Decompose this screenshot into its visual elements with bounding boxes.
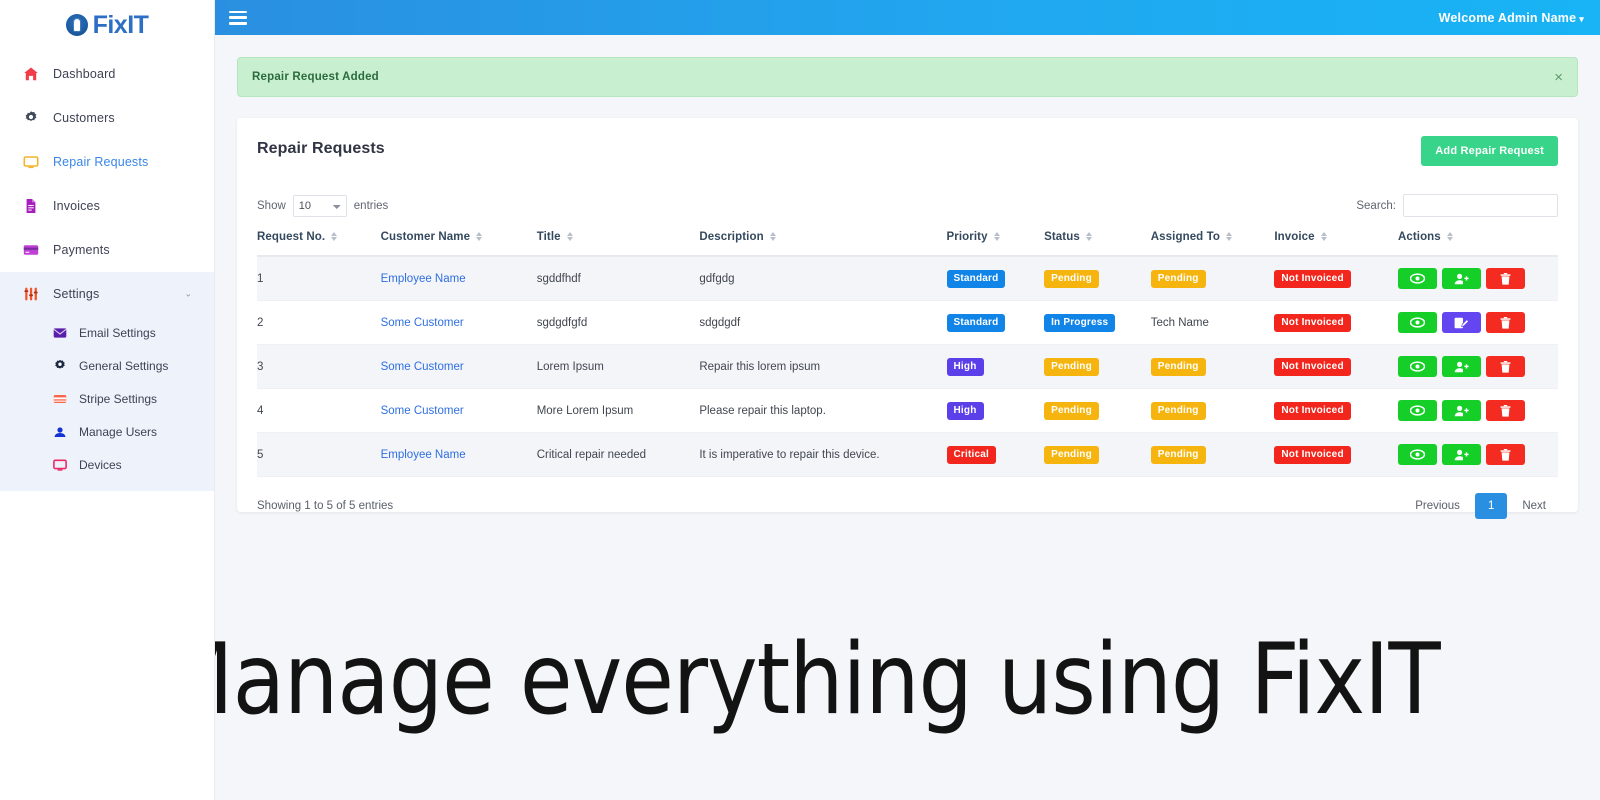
- invoice-badge: Not Invoiced: [1274, 402, 1350, 420]
- request-no-value: 3: [257, 361, 263, 373]
- sort-icon: [770, 232, 776, 241]
- cell-title: More Lorem Ipsum: [537, 389, 700, 433]
- customer-link[interactable]: Employee Name: [381, 449, 466, 461]
- title-value: Lorem Ipsum: [537, 361, 604, 373]
- table-row: 1Employee NamesgddfhdfgdfgdgStandardPend…: [257, 256, 1558, 301]
- col-label: Customer Name: [381, 231, 471, 243]
- view-button[interactable]: [1398, 356, 1437, 377]
- cell-customer-name: Some Customer: [381, 301, 537, 345]
- row-actions: [1398, 356, 1558, 377]
- show-label: Show: [257, 200, 286, 212]
- cell-description: Please repair this laptop.: [699, 389, 946, 433]
- invoice-badge: Not Invoiced: [1274, 358, 1350, 376]
- cell-invoice: Not Invoiced: [1274, 389, 1398, 433]
- cell-description: Repair this lorem ipsum: [699, 345, 946, 389]
- cell-assigned-to: Pending: [1151, 433, 1275, 477]
- top-navbar: Welcome Admin Name▾: [215, 0, 1600, 35]
- cell-title: sgdgdfgfd: [537, 301, 700, 345]
- cell-request-no: 2: [257, 301, 381, 345]
- title-value: sgdgdfgfd: [537, 317, 588, 329]
- pagination-next[interactable]: Next: [1510, 493, 1558, 519]
- request-no-value: 4: [257, 405, 263, 417]
- trash-icon: [1500, 361, 1511, 373]
- cell-priority: High: [947, 345, 1045, 389]
- close-icon[interactable]: ×: [1554, 70, 1563, 85]
- stripe-card-icon: [52, 391, 67, 406]
- col-priority[interactable]: Priority: [947, 231, 1045, 256]
- table-row: 3Some CustomerLorem IpsumRepair this lor…: [257, 345, 1558, 389]
- cell-assigned-to: Pending: [1151, 389, 1275, 433]
- col-invoice[interactable]: Invoice: [1274, 231, 1398, 256]
- col-customer-name[interactable]: Customer Name: [381, 231, 537, 256]
- delete-button[interactable]: [1486, 312, 1525, 333]
- trash-icon: [1500, 405, 1511, 417]
- assign-button[interactable]: [1442, 444, 1481, 465]
- pagination-page-1[interactable]: 1: [1475, 493, 1507, 519]
- col-label: Assigned To: [1151, 231, 1220, 243]
- priority-badge: High: [947, 402, 984, 420]
- trash-icon: [1500, 273, 1511, 285]
- row-actions: [1398, 444, 1558, 465]
- trash-icon: [1500, 317, 1511, 329]
- eye-icon: [1410, 361, 1425, 372]
- col-request-no[interactable]: Request No.: [257, 231, 381, 256]
- description-value: gdfgdg: [699, 273, 734, 285]
- sidebar-item-payments[interactable]: Payments: [0, 228, 214, 272]
- sidebar-nav: Dashboard Customers Repair Requests Invo…: [0, 46, 214, 491]
- sidebar-subitem-label: General Settings: [79, 359, 168, 373]
- customer-link[interactable]: Some Customer: [381, 317, 464, 329]
- cell-customer-name: Some Customer: [381, 345, 537, 389]
- sidebar-subitem-label: Devices: [79, 458, 122, 472]
- sort-icon: [567, 232, 573, 241]
- cell-customer-name: Employee Name: [381, 433, 537, 477]
- user-plus-icon: [1454, 361, 1469, 373]
- col-label: Request No.: [257, 231, 325, 243]
- table-footer: Showing 1 to 5 of 5 entries Previous 1 N…: [257, 493, 1558, 519]
- user-menu-label: Welcome Admin Name: [1439, 11, 1577, 25]
- cell-priority: Standard: [947, 301, 1045, 345]
- page-length-select[interactable]: 102550100: [293, 195, 347, 217]
- col-label: Description: [699, 231, 763, 243]
- create-invoice-button[interactable]: [1442, 312, 1481, 333]
- row-actions: [1398, 400, 1558, 421]
- cell-status: Pending: [1044, 256, 1151, 301]
- sort-icon: [1447, 232, 1453, 241]
- sidebar-subitem-devices[interactable]: Devices: [0, 448, 214, 481]
- sidebar-subitem-label: Stripe Settings: [79, 392, 157, 406]
- view-button[interactable]: [1398, 400, 1437, 421]
- cell-actions: [1398, 301, 1558, 345]
- cell-status: Pending: [1044, 389, 1151, 433]
- cell-invoice: Not Invoiced: [1274, 433, 1398, 477]
- cell-invoice: Not Invoiced: [1274, 345, 1398, 389]
- page-title: Repair Requests: [257, 136, 385, 158]
- sidebar-subitem-manage-users[interactable]: Manage Users: [0, 415, 214, 448]
- cell-actions: [1398, 389, 1558, 433]
- col-description[interactable]: Description: [699, 231, 946, 256]
- sort-icon: [331, 232, 337, 241]
- sidebar-item-label: Settings: [53, 287, 99, 301]
- sidebar-item-settings[interactable]: Settings ⌄: [0, 272, 214, 316]
- priority-badge: Standard: [947, 270, 1006, 288]
- gear-icon: [52, 358, 67, 373]
- request-no-value: 1: [257, 273, 263, 285]
- eye-icon: [1410, 317, 1425, 328]
- trash-icon: [1500, 449, 1511, 461]
- sidebar-item-label: Customers: [53, 111, 115, 125]
- eye-icon: [1410, 405, 1425, 416]
- search-input[interactable]: [1403, 194, 1558, 217]
- chevron-down-icon: ⌄: [184, 289, 192, 300]
- table-row: 5Employee NameCritical repair neededIt i…: [257, 433, 1558, 477]
- sort-icon: [476, 232, 482, 241]
- status-badge: Pending: [1044, 446, 1099, 464]
- show-entries-control: Show 102550100 entries: [257, 195, 388, 217]
- cell-actions: [1398, 345, 1558, 389]
- tagline-text: Manage everything using FixIT: [160, 623, 1440, 737]
- assign-button[interactable]: [1442, 400, 1481, 421]
- assigned-value: Tech Name: [1151, 317, 1209, 329]
- cell-status: Pending: [1044, 345, 1151, 389]
- users-icon: [52, 424, 67, 439]
- brand-name: FixIT: [93, 13, 149, 38]
- cell-actions: [1398, 256, 1558, 301]
- status-badge: In Progress: [1044, 314, 1115, 332]
- assign-button[interactable]: [1442, 356, 1481, 377]
- hamburger-icon[interactable]: [229, 11, 247, 25]
- assign-button[interactable]: [1442, 268, 1481, 289]
- col-label: Status: [1044, 231, 1080, 243]
- invoice-badge: Not Invoiced: [1274, 270, 1350, 288]
- file-edit-icon: [1454, 317, 1468, 329]
- assigned-badge: Pending: [1151, 402, 1206, 420]
- description-value: It is imperative to repair this device.: [699, 449, 879, 461]
- description-value: Please repair this laptop.: [699, 405, 826, 417]
- status-badge: Pending: [1044, 270, 1099, 288]
- sidebar: FixIT Dashboard Customers Repair Request: [0, 0, 215, 800]
- cell-invoice: Not Invoiced: [1274, 256, 1398, 301]
- alert-message: Repair Request Added: [252, 71, 379, 83]
- col-assigned-to[interactable]: Assigned To: [1151, 231, 1275, 256]
- customer-link[interactable]: Some Customer: [381, 405, 464, 417]
- sort-icon: [1086, 232, 1092, 241]
- cell-status: Pending: [1044, 433, 1151, 477]
- status-badge: Pending: [1044, 358, 1099, 376]
- customer-link[interactable]: Some Customer: [381, 361, 464, 373]
- table-row: 4Some CustomerMore Lorem IpsumPlease rep…: [257, 389, 1558, 433]
- table-header: Request No. Customer Name Title Descript…: [257, 231, 1558, 256]
- row-actions: [1398, 312, 1558, 333]
- sliders-icon: [22, 286, 39, 303]
- title-value: sgddfhdf: [537, 273, 581, 285]
- status-badge: Pending: [1044, 402, 1099, 420]
- col-label: Title: [537, 231, 561, 243]
- eye-icon: [1410, 449, 1425, 460]
- cell-actions: [1398, 433, 1558, 477]
- credit-card-icon: [22, 242, 39, 259]
- assigned-badge: Pending: [1151, 270, 1206, 288]
- delete-button[interactable]: [1486, 268, 1525, 289]
- cell-assigned-to: Pending: [1151, 256, 1275, 301]
- success-alert: Repair Request Added ×: [237, 57, 1578, 97]
- cell-assigned-to: Tech Name: [1151, 301, 1275, 345]
- col-label: Invoice: [1274, 231, 1314, 243]
- file-invoice-icon: [22, 198, 39, 215]
- cell-request-no: 4: [257, 389, 381, 433]
- sidebar-subitem-general-settings[interactable]: General Settings: [0, 349, 214, 382]
- view-button[interactable]: [1398, 312, 1437, 333]
- wrench-circle-icon: [66, 14, 88, 36]
- cell-request-no: 5: [257, 433, 381, 477]
- cell-title: Critical repair needed: [537, 433, 700, 477]
- user-plus-icon: [1454, 405, 1469, 417]
- cell-invoice: Not Invoiced: [1274, 301, 1398, 345]
- view-button[interactable]: [1398, 444, 1437, 465]
- sidebar-item-label: Dashboard: [53, 67, 116, 81]
- cell-description: sdgdgdf: [699, 301, 946, 345]
- delete-button[interactable]: [1486, 400, 1525, 421]
- tagline-banner: Manage everything using FixIT: [0, 560, 1600, 800]
- entries-info: Showing 1 to 5 of 5 entries: [257, 500, 393, 512]
- sidebar-group-settings: Settings ⌄ Email Settings General Settin…: [0, 272, 214, 491]
- request-no-value: 2: [257, 317, 263, 329]
- sidebar-subitem-stripe-settings[interactable]: Stripe Settings: [0, 382, 214, 415]
- cell-description: It is imperative to repair this device.: [699, 433, 946, 477]
- cell-title: sgddfhdf: [537, 256, 700, 301]
- search-control: Search:: [1356, 194, 1558, 217]
- pagination-previous[interactable]: Previous: [1403, 493, 1472, 519]
- table-header-row: Request No. Customer Name Title Descript…: [257, 231, 1558, 256]
- desktop-icon: [22, 154, 39, 171]
- repair-requests-card: Repair Requests Add Repair Request Show …: [237, 118, 1578, 512]
- delete-button[interactable]: [1486, 444, 1525, 465]
- user-menu[interactable]: Welcome Admin Name▾: [1439, 11, 1584, 25]
- col-label: Actions: [1398, 231, 1441, 243]
- sidebar-subitem-label: Email Settings: [79, 326, 156, 340]
- title-value: Critical repair needed: [537, 449, 646, 461]
- table-row: 2Some CustomersgdgdfgfdsdgdgdfStandardIn…: [257, 301, 1558, 345]
- view-button[interactable]: [1398, 268, 1437, 289]
- users-gear-icon: [22, 110, 39, 127]
- row-actions: [1398, 268, 1558, 289]
- sidebar-subitem-email-settings[interactable]: Email Settings: [0, 316, 214, 349]
- sort-icon: [1226, 232, 1232, 241]
- col-status[interactable]: Status: [1044, 231, 1151, 256]
- request-no-value: 5: [257, 449, 263, 461]
- cell-customer-name: Some Customer: [381, 389, 537, 433]
- description-value: sdgdgdf: [699, 317, 740, 329]
- sidebar-item-invoices[interactable]: Invoices: [0, 184, 214, 228]
- col-label: Priority: [947, 231, 988, 243]
- invoice-badge: Not Invoiced: [1274, 446, 1350, 464]
- search-label: Search:: [1356, 200, 1396, 212]
- chevron-down-icon: ▾: [1579, 14, 1584, 24]
- priority-badge: High: [947, 358, 984, 376]
- user-plus-icon: [1454, 273, 1469, 285]
- invoice-badge: Not Invoiced: [1274, 314, 1350, 332]
- user-plus-icon: [1454, 449, 1469, 461]
- cell-description: gdfgdg: [699, 256, 946, 301]
- monitor-icon: [52, 457, 67, 472]
- priority-badge: Standard: [947, 314, 1006, 332]
- cell-title: Lorem Ipsum: [537, 345, 700, 389]
- customer-link[interactable]: Employee Name: [381, 273, 466, 285]
- sort-icon: [994, 232, 1000, 241]
- pagination: Previous 1 Next: [1403, 493, 1558, 519]
- brand-logo[interactable]: FixIT: [0, 0, 214, 46]
- card-header: Repair Requests Add Repair Request: [257, 136, 1558, 166]
- cell-customer-name: Employee Name: [381, 256, 537, 301]
- repair-requests-table: Request No. Customer Name Title Descript…: [257, 231, 1558, 477]
- fixit-admin-app: FixIT Dashboard Customers Repair Request: [0, 0, 1600, 800]
- col-actions[interactable]: Actions: [1398, 231, 1558, 256]
- cell-request-no: 3: [257, 345, 381, 389]
- mail-icon: [52, 325, 67, 340]
- entries-label: entries: [354, 200, 389, 212]
- sidebar-item-label: Payments: [53, 243, 110, 257]
- sidebar-item-dashboard[interactable]: Dashboard: [0, 52, 214, 96]
- priority-badge: Critical: [947, 446, 997, 464]
- sort-icon: [1321, 232, 1327, 241]
- cell-priority: Standard: [947, 256, 1045, 301]
- assigned-badge: Pending: [1151, 358, 1206, 376]
- description-value: Repair this lorem ipsum: [699, 361, 820, 373]
- col-title[interactable]: Title: [537, 231, 700, 256]
- cell-assigned-to: Pending: [1151, 345, 1275, 389]
- delete-button[interactable]: [1486, 356, 1525, 377]
- sidebar-item-label: Repair Requests: [53, 155, 148, 169]
- home-icon: [22, 66, 39, 83]
- cell-status: In Progress: [1044, 301, 1151, 345]
- cell-priority: Critical: [947, 433, 1045, 477]
- sidebar-item-repair-requests[interactable]: Repair Requests: [0, 140, 214, 184]
- sidebar-subitem-label: Manage Users: [79, 425, 157, 439]
- assigned-badge: Pending: [1151, 446, 1206, 464]
- cell-priority: High: [947, 389, 1045, 433]
- cell-request-no: 1: [257, 256, 381, 301]
- eye-icon: [1410, 273, 1425, 284]
- sidebar-item-label: Invoices: [53, 199, 100, 213]
- table-body: 1Employee NamesgddfhdfgdfgdgStandardPend…: [257, 256, 1558, 477]
- sidebar-item-customers[interactable]: Customers: [0, 96, 214, 140]
- table-controls: Show 102550100 entries Search:: [257, 194, 1558, 217]
- add-repair-request-button[interactable]: Add Repair Request: [1421, 136, 1558, 166]
- title-value: More Lorem Ipsum: [537, 405, 634, 417]
